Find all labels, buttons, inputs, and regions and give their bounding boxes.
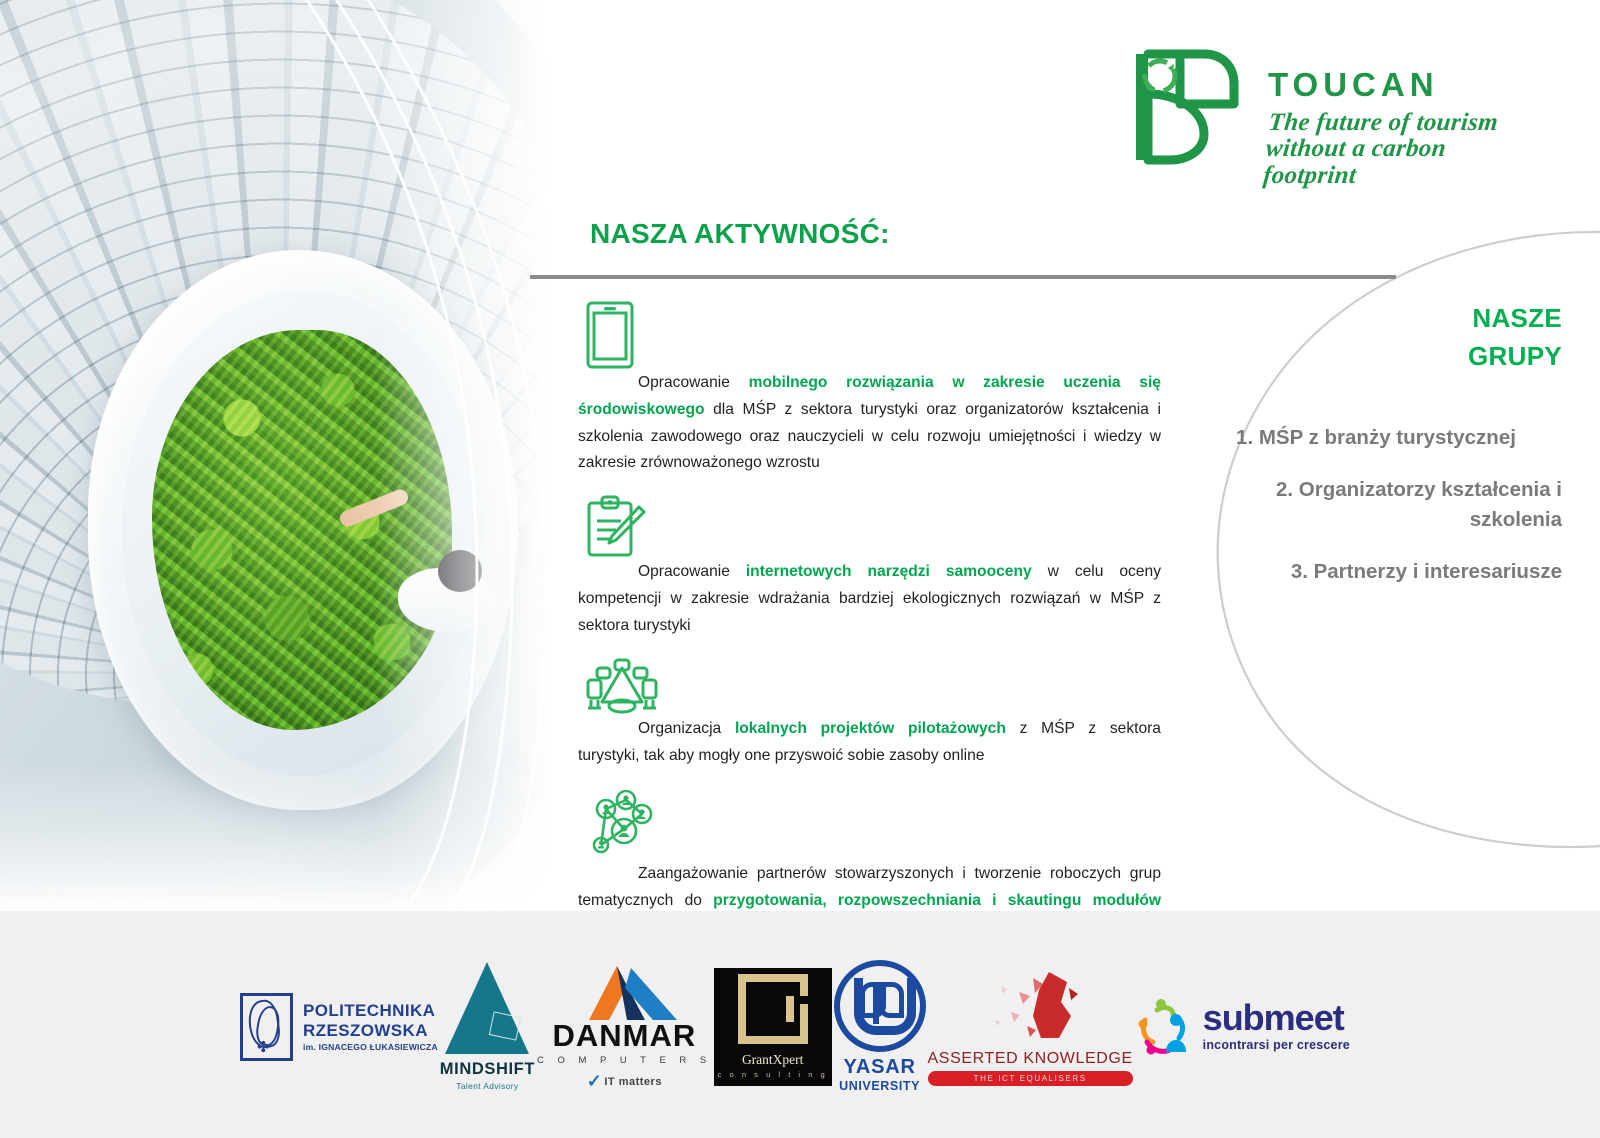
toucan-bird-icon — [1118, 38, 1258, 168]
submeet-line1: submeet — [1203, 1001, 1350, 1035]
yasar-line1: YASAR — [834, 1056, 926, 1079]
activity-list: Opracowanie mobilnego rozwiązania w zakr… — [578, 300, 1161, 960]
activity-item-3: Organizacja lokalnych projektów pilotażo… — [578, 658, 1161, 770]
yasar-tulip-icon — [834, 960, 926, 1052]
mindshift-triangle-icon — [445, 962, 529, 1054]
title-divider — [530, 275, 1396, 279]
grantxpert-line1: GrantXpert — [742, 1052, 803, 1068]
asserted-knowledge-logo: ASSERTED KNOWLEDGE THE ICT EQUALISERS — [928, 968, 1133, 1086]
people-network-icon — [584, 787, 658, 861]
grantxpert-consulting-logo: GrantXpert c o n s u l t i n g — [714, 968, 832, 1086]
grantxpert-line2: c o n s u l t i n g — [718, 1070, 828, 1079]
submeet-logo: submeet incontrarsi per crescere — [1135, 994, 1350, 1060]
prz-line3: im. IGNACEGO ŁUKASIEWICZA — [303, 1042, 438, 1052]
photo-bottom-fade — [0, 763, 563, 911]
meeting-table-icon — [584, 658, 660, 716]
ak-line2: THE ICT EQUALISERS — [928, 1071, 1133, 1086]
target-groups-panel: NASZE GRUPY 1. MŚP z branży turystycznej… — [1190, 300, 1562, 608]
danmar-computers-logo: DANMAR C O M P U T E R S ✓IT matters — [537, 962, 712, 1092]
ak-face-shards-icon — [975, 968, 1085, 1046]
groups-title-line2: GRUPY — [1190, 338, 1562, 376]
danmar-peaks-icon — [549, 962, 699, 1020]
activity-text-2: Opracowanie internetowych narzędzi samoo… — [578, 559, 1161, 639]
submeet-line2: incontrarsi per crescere — [1203, 1038, 1350, 1052]
logo-tagline-line1: The future of tourism — [1267, 110, 1542, 136]
politechnika-rzeszowska-logo: ✤ POLITECHNIKA RZESZOWSKA im. IGNACEGO Ł… — [240, 993, 438, 1061]
highlighted-text: internetowych narzędzi samooceny — [746, 563, 1032, 580]
danmar-line1: DANMAR — [537, 1018, 712, 1054]
highlighted-text: lokalnych projektów pilotażowych — [735, 720, 1006, 737]
groups-title-line1: NASZE — [1190, 300, 1562, 338]
submeet-people-icon — [1135, 994, 1195, 1060]
group-item-1: 1. MŚP z branży turystycznej — [1190, 423, 1562, 453]
yasar-line2: UNIVERSITY — [834, 1079, 926, 1093]
body-text: Organizacja — [638, 720, 735, 737]
body-text: Opracowanie — [638, 374, 749, 391]
clipboard-pencil-icon — [584, 495, 646, 559]
activity-item-2: Opracowanie internetowych narzędzi samoo… — [578, 495, 1161, 639]
partner-logos-footer: ✤ POLITECHNIKA RZESZOWSKA im. IGNACEGO Ł… — [0, 911, 1600, 1138]
activity-text-3: Organizacja lokalnych projektów pilotażo… — [578, 716, 1161, 770]
danmar-line3: ✓IT matters — [537, 1071, 712, 1092]
logo-tagline-line2: without a carbon footprint — [1262, 136, 1540, 189]
toucan-logo: TOUCAN The future of tourism without a c… — [1118, 38, 1538, 178]
mindshift-line1: MINDSHIFT — [440, 1060, 535, 1079]
logo-wordmark: TOUCAN — [1268, 66, 1439, 104]
groups-title: NASZE GRUPY — [1190, 300, 1562, 375]
mindshift-logo: MINDSHIFT Talent Advisory — [440, 962, 535, 1091]
prz-crest-icon: ✤ — [240, 993, 293, 1061]
grantxpert-g-icon — [738, 974, 808, 1044]
page-title: NASZA AKTYWNOŚĆ: — [590, 218, 890, 250]
partner-logo-row: ✤ POLITECHNIKA RZESZOWSKA im. IGNACEGO Ł… — [240, 919, 1350, 1134]
mobile-phone-icon — [584, 300, 636, 370]
groups-list: 1. MŚP z branży turystycznej 2. Organiza… — [1190, 423, 1562, 586]
activity-item-1: Opracowanie mobilnego rozwiązania w zakr… — [578, 300, 1161, 477]
group-item-3: 3. Partnerzy i interesariusze — [1190, 557, 1562, 587]
prz-line2: RZESZOWSKA — [303, 1021, 438, 1040]
check-icon: ✓ — [587, 1071, 603, 1091]
danmar-line2: C O M P U T E R S — [537, 1055, 712, 1066]
ak-line1: ASSERTED KNOWLEDGE — [928, 1050, 1133, 1068]
activity-text-1: Opracowanie mobilnego rozwiązania w zakr… — [578, 370, 1161, 477]
prz-line1: POLITECHNIKA — [303, 1001, 438, 1020]
mindshift-line2: Talent Advisory — [440, 1081, 535, 1091]
yasar-university-logo: YASAR UNIVERSITY — [834, 960, 926, 1093]
spiral-staircase-photo — [0, 0, 563, 911]
logo-tagline: The future of tourism without a carbon f… — [1262, 110, 1542, 189]
body-text: Opracowanie — [638, 563, 746, 580]
group-item-2: 2. Organizatorzy kształcenia i szkolenia — [1190, 475, 1562, 534]
